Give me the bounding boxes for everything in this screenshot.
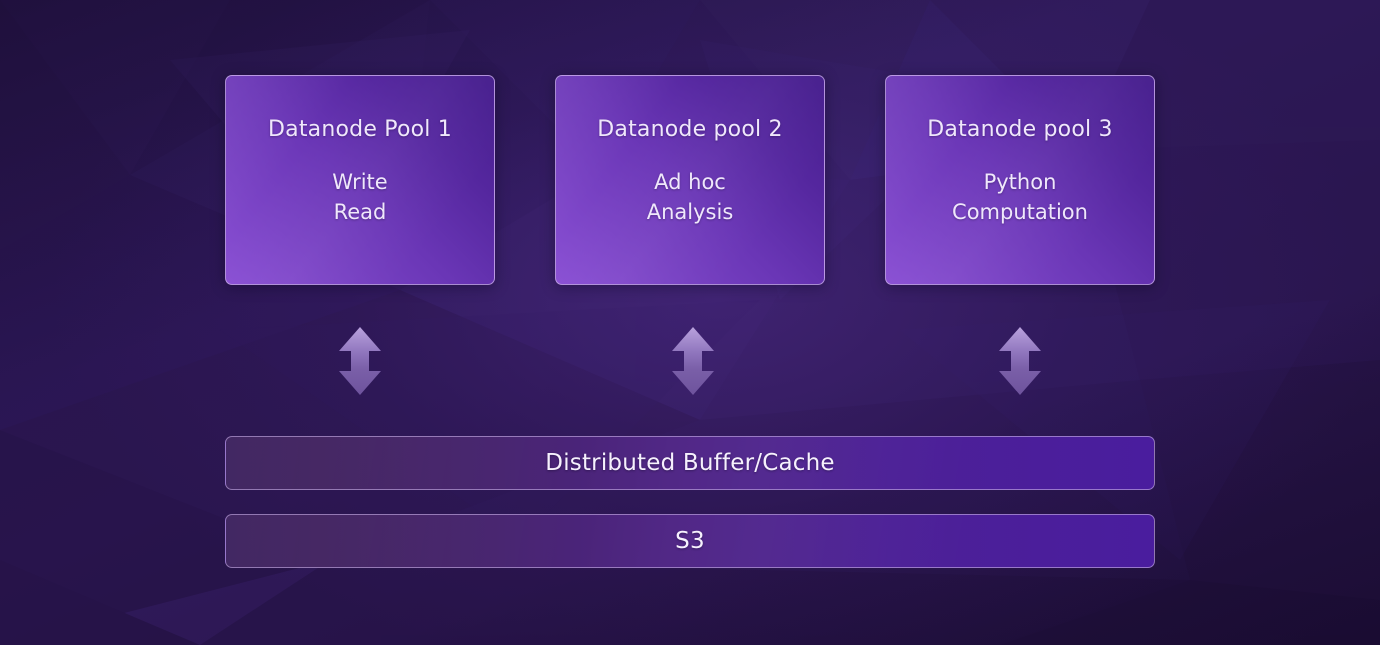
datanode-pool-3-role-line-2: Computation (952, 197, 1088, 227)
datanode-pool-1-role-line-1: Write (332, 167, 387, 197)
datanode-pool-2-role-line-1: Ad hoc (647, 167, 734, 197)
datanode-pool-1-roles: Write Read (332, 167, 387, 227)
double-arrow-vertical-icon (337, 326, 383, 396)
datanode-pool-3-roles: Python Computation (952, 167, 1088, 227)
datanode-pool-1-role-line-2: Read (332, 197, 387, 227)
distributed-buffer-cache-bar[interactable]: Distributed Buffer/Cache (225, 436, 1155, 490)
datanode-pool-3-box[interactable]: Datanode pool 3 Python Computation (885, 75, 1155, 285)
s3-storage-bar[interactable]: S3 (225, 514, 1155, 568)
bidirectional-arrow-pool-1 (337, 326, 383, 396)
datanode-pool-1-title: Datanode Pool 1 (268, 119, 452, 141)
datanode-pool-2-role-line-2: Analysis (647, 197, 734, 227)
datanode-pool-2-roles: Ad hoc Analysis (647, 167, 734, 227)
datanode-pool-3-title: Datanode pool 3 (927, 119, 1112, 141)
bidirectional-arrow-pool-3 (997, 326, 1043, 396)
diagram-canvas: Datanode Pool 1 Write Read Datanode pool… (0, 0, 1380, 645)
datanode-pool-2-title: Datanode pool 2 (597, 119, 782, 141)
datanode-pool-3-role-line-1: Python (952, 167, 1088, 197)
datanode-pool-2-box[interactable]: Datanode pool 2 Ad hoc Analysis (555, 75, 825, 285)
datanode-pool-1-box[interactable]: Datanode Pool 1 Write Read (225, 75, 495, 285)
s3-storage-label: S3 (675, 528, 705, 554)
double-arrow-vertical-icon (997, 326, 1043, 396)
bidirectional-arrow-pool-2 (670, 326, 716, 396)
distributed-buffer-cache-label: Distributed Buffer/Cache (545, 450, 834, 476)
double-arrow-vertical-icon (670, 326, 716, 396)
